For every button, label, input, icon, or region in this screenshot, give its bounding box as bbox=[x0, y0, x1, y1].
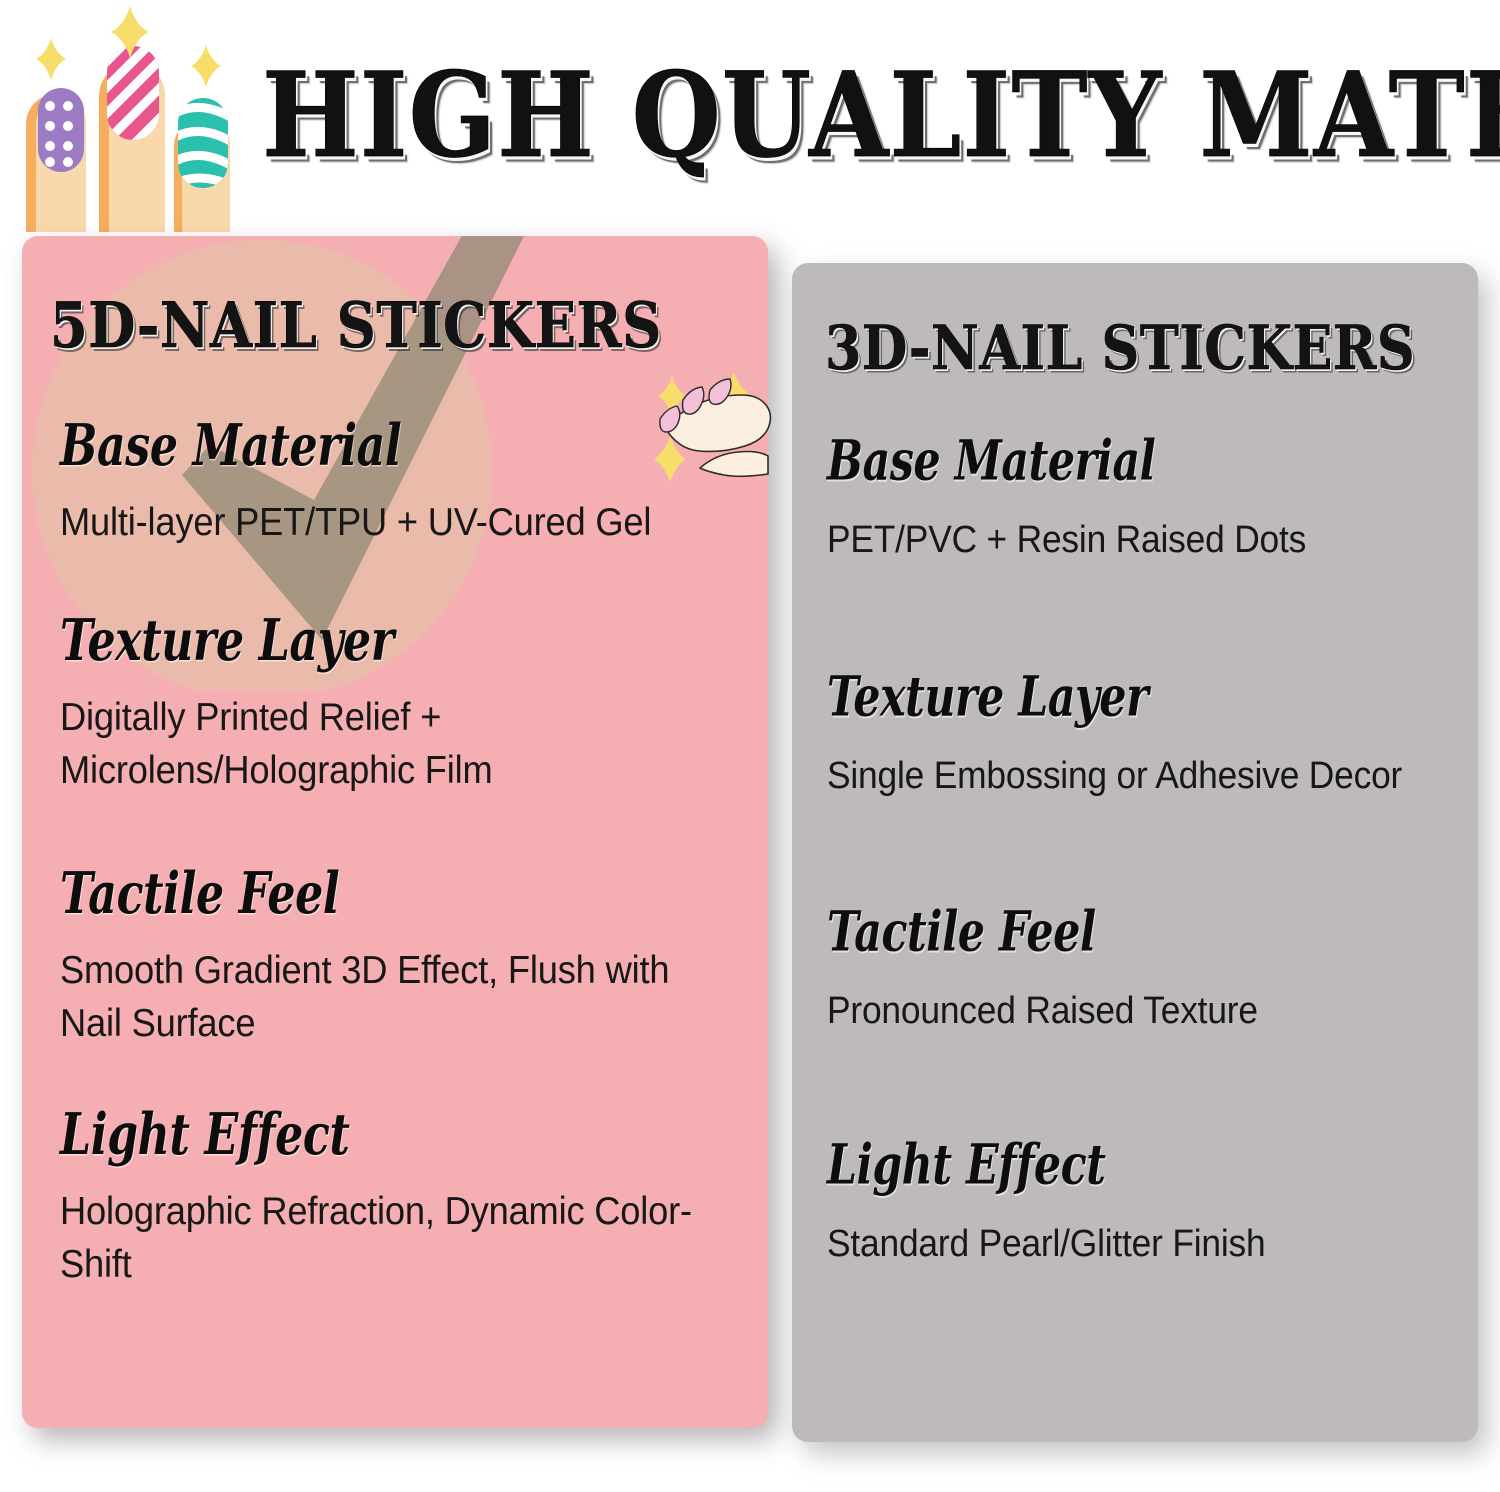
spec-value: Single Embossing or Adhesive Decor bbox=[827, 750, 1422, 802]
spec-row-texture-layer: Texture Layer Digitally Printed Relief +… bbox=[60, 609, 740, 797]
spec-row-texture-layer: Texture Layer Single Embossing or Adhesi… bbox=[827, 668, 1467, 802]
spec-heading: Light Effect bbox=[827, 1136, 1352, 1195]
spec-heading: Light Effect bbox=[60, 1103, 618, 1164]
spec-heading: Texture Layer bbox=[60, 609, 618, 670]
card-5d-title: 5D-NAIL STICKERS bbox=[50, 292, 662, 359]
spec-value: Multi-layer PET/TPU + UV-Cured Gel bbox=[60, 496, 692, 549]
spec-row-tactile-feel: Tactile Feel Smooth Gradient 3D Effect, … bbox=[60, 862, 740, 1050]
spec-row-light-effect: Light Effect Standard Pearl/Glitter Fini… bbox=[827, 1136, 1467, 1270]
page-title: HIGH QUALITY MATERIALS bbox=[262, 52, 1474, 179]
nail-cluster-illustration bbox=[10, 0, 260, 240]
spec-heading: Base Material bbox=[60, 414, 618, 475]
spec-value: Holographic Refraction, Dynamic Color-Sh… bbox=[60, 1185, 692, 1291]
spec-value: Standard Pearl/Glitter Finish bbox=[827, 1218, 1422, 1270]
spec-value: Smooth Gradient 3D Effect, Flush with Na… bbox=[60, 944, 692, 1050]
card-3d-title: 3D-NAIL STICKERS bbox=[825, 315, 1415, 380]
three-decorated-nails-icon bbox=[10, 0, 260, 240]
spec-value: Pronounced Raised Texture bbox=[827, 985, 1422, 1037]
spec-row-tactile-feel: Tactile Feel Pronounced Raised Texture bbox=[827, 903, 1467, 1037]
spec-heading: Base Material bbox=[827, 432, 1352, 491]
spec-value: PET/PVC + Resin Raised Dots bbox=[827, 514, 1422, 566]
spec-row-base-material: Base Material PET/PVC + Resin Raised Dot… bbox=[827, 432, 1467, 566]
spec-value: Digitally Printed Relief + Microlens/Hol… bbox=[60, 691, 692, 797]
spec-row-base-material: Base Material Multi-layer PET/TPU + UV-C… bbox=[60, 414, 740, 549]
spec-heading: Tactile Feel bbox=[60, 862, 618, 923]
spec-heading: Tactile Feel bbox=[827, 903, 1352, 962]
spec-row-light-effect: Light Effect Holographic Refraction, Dyn… bbox=[60, 1103, 740, 1291]
spec-heading: Texture Layer bbox=[827, 668, 1352, 727]
